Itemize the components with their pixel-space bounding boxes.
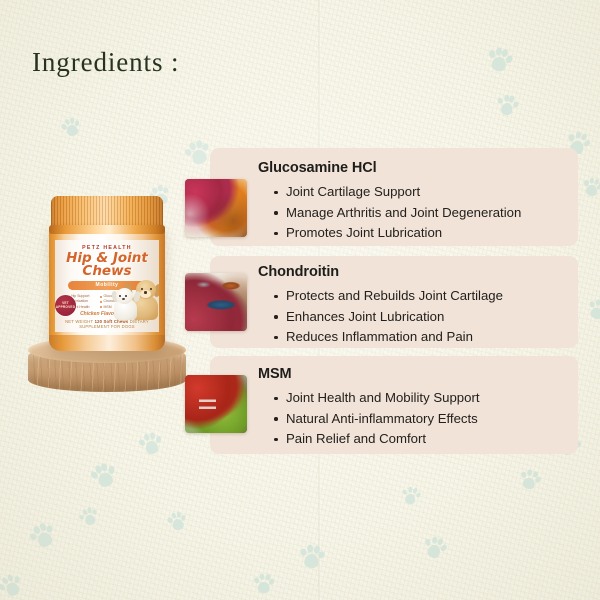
- jar-label: PETZ HEALTH Hip & Joint Chews Mobility H…: [55, 240, 159, 332]
- paw-print-icon: [253, 573, 274, 594]
- ingredient-card: MSM Joint Health and Mobility Support Na…: [210, 356, 578, 454]
- benefit-item: Manage Arthritis and Joint Degeneration: [272, 203, 521, 224]
- paw-print-icon: [517, 467, 542, 492]
- ingredient-card: Glucosamine HCl Joint Cartilage Support …: [210, 148, 578, 246]
- benefit-item: Promotes Joint Lubrication: [272, 223, 521, 244]
- dog-nose: [144, 291, 147, 294]
- supplement-jar: PETZ HEALTH Hip & Joint Chews Mobility H…: [49, 196, 165, 354]
- ingredient-title: Chondroitin: [258, 264, 339, 280]
- paw-print-icon: [87, 459, 119, 491]
- benefit-item: Pain Relief and Comfort: [272, 429, 480, 450]
- page-title: Ingredients :: [32, 47, 179, 78]
- paw-print-icon: [298, 543, 325, 570]
- paw-print-icon: [484, 44, 514, 74]
- benefit-item: Joint Cartilage Support: [272, 182, 521, 203]
- ingredient-benefit-list: Joint Cartilage Support Manage Arthritis…: [272, 182, 521, 244]
- chondroitin-thumbnail: [185, 273, 247, 331]
- benefit-item: Natural Anti-inflammatory Effects: [272, 409, 480, 430]
- paw-print-icon: [60, 116, 84, 140]
- thumbnail-image: [185, 375, 247, 433]
- ingredient-benefit-list: Joint Health and Mobility Support Natura…: [272, 388, 480, 450]
- dog-eye-left: [141, 288, 143, 290]
- paw-print-icon: [0, 571, 26, 600]
- glucosamine-thumbnail: [185, 179, 247, 237]
- jar-lid-rim: [49, 225, 165, 234]
- paw-print-icon: [400, 485, 421, 506]
- paw-print-icon: [166, 510, 188, 532]
- paw-print-icon: [495, 93, 519, 117]
- thumbnail-image: [185, 179, 247, 237]
- paw-print-icon: [77, 505, 100, 528]
- dog-eye-right: [150, 288, 152, 290]
- thumbnail-image: [185, 273, 247, 331]
- ingredient-card: Chondroitin Protects and Rebuilds Joint …: [210, 256, 578, 348]
- jar-bottom-band: [49, 335, 165, 351]
- paw-print-icon: [585, 297, 600, 323]
- white-puppy-icon: [114, 288, 138, 320]
- paw-print-icon: [581, 176, 600, 200]
- benefit-item: Joint Health and Mobility Support: [272, 388, 480, 409]
- msm-thumbnail: [185, 375, 247, 433]
- puppy-eye-right: [125, 295, 127, 297]
- puppy-eye-left: [119, 295, 121, 297]
- ingredient-benefit-list: Protects and Rebuilds Joint Cartilage En…: [272, 286, 503, 348]
- ingredient-title: MSM: [258, 366, 292, 382]
- paw-print-icon: [27, 520, 59, 552]
- infographic-page: Ingredients : PETZ HEALTH Hip & Joint Ch…: [0, 0, 600, 600]
- benefit-item: Protects and Rebuilds Joint Cartilage: [272, 286, 503, 307]
- benefit-item: Reduces Inflammation and Pain: [272, 327, 503, 348]
- seal-line-2: APPROVED: [55, 305, 76, 309]
- paw-print-icon: [138, 431, 165, 458]
- paw-print-icon: [183, 138, 213, 168]
- product-jar-image: PETZ HEALTH Hip & Joint Chews Mobility H…: [22, 196, 192, 401]
- net-count-text: NET WEIGHT 120 Soft Chews DIETARY SUPPLE…: [55, 319, 159, 329]
- dog-illustration: [114, 272, 158, 320]
- paw-print-icon: [421, 534, 448, 561]
- benefit-item: Enhances Joint Lubrication: [272, 307, 503, 328]
- ingredient-title: Glucosamine HCl: [258, 160, 377, 176]
